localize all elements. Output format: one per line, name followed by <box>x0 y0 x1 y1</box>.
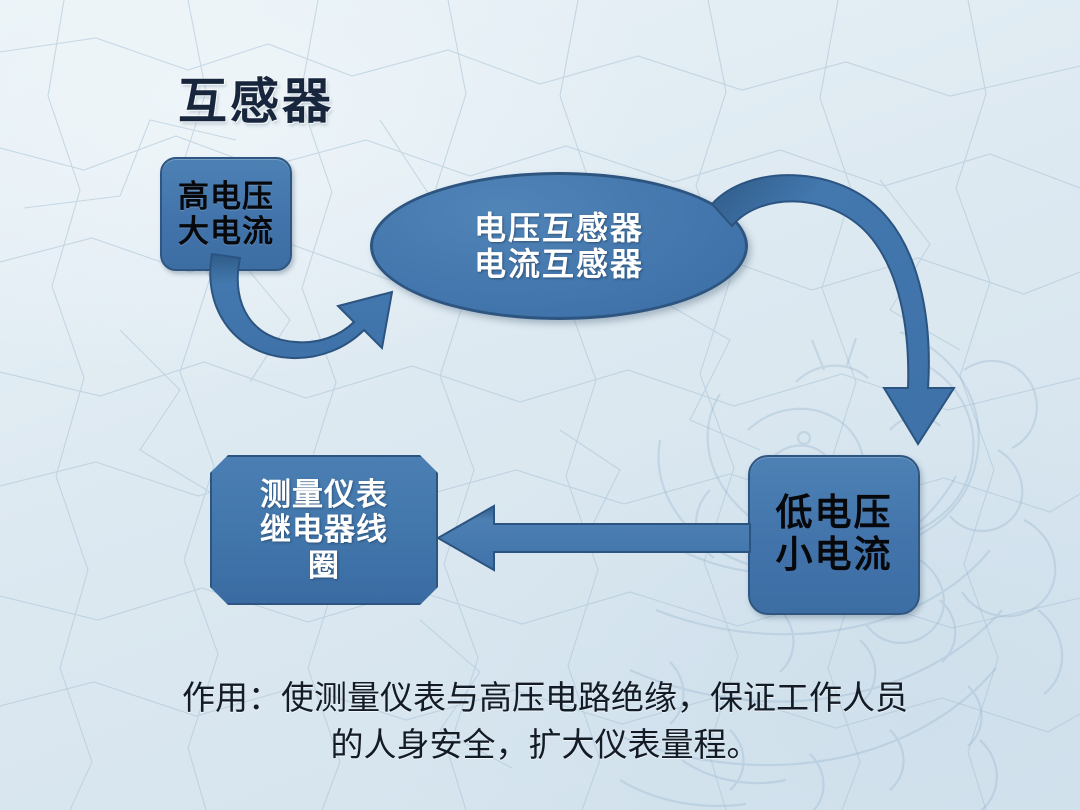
node-measuring-instruments[interactable]: 测量仪表 继电器线 圈 <box>210 455 438 605</box>
arrow-low-to-meter-icon <box>436 498 752 578</box>
node-transformer-types-line-2: 电流互感器 <box>474 246 644 282</box>
node-measuring-instruments-line-1: 测量仪表 <box>260 477 388 512</box>
caption-line-2: 的人身安全，扩大仪表量程。 <box>130 723 960 770</box>
arrow-transformer-to-low-icon <box>688 160 958 460</box>
node-high-voltage-current-line-1: 高电压 <box>178 179 274 214</box>
node-low-voltage-current-line-1: 低电压 <box>776 493 893 535</box>
node-high-voltage-current-line-2: 大电流 <box>178 214 274 249</box>
node-low-voltage-current[interactable]: 低电压 小电流 <box>748 455 920 615</box>
node-high-voltage-current[interactable]: 高电压 大电流 <box>160 157 292 271</box>
page-title: 互感器 <box>178 62 334 133</box>
node-low-voltage-current-line-2: 小电流 <box>776 535 893 577</box>
slide-canvas: 互感器 高电压 大电流 电压互感器 电流互感器 低电压 小电流 测量仪表 继电器… <box>0 0 1080 810</box>
node-transformer-types[interactable]: 电压互感器 电流互感器 <box>370 172 748 320</box>
caption: 作用：使测量仪表与高压电路绝缘，保证工作人员 的人身安全，扩大仪表量程。 <box>130 676 960 770</box>
node-transformer-types-line-1: 电压互感器 <box>474 210 644 246</box>
caption-line-1: 作用：使测量仪表与高压电路绝缘，保证工作人员 <box>130 676 960 723</box>
node-measuring-instruments-line-3: 圈 <box>308 548 340 583</box>
node-measuring-instruments-line-2: 继电器线 <box>260 512 388 547</box>
